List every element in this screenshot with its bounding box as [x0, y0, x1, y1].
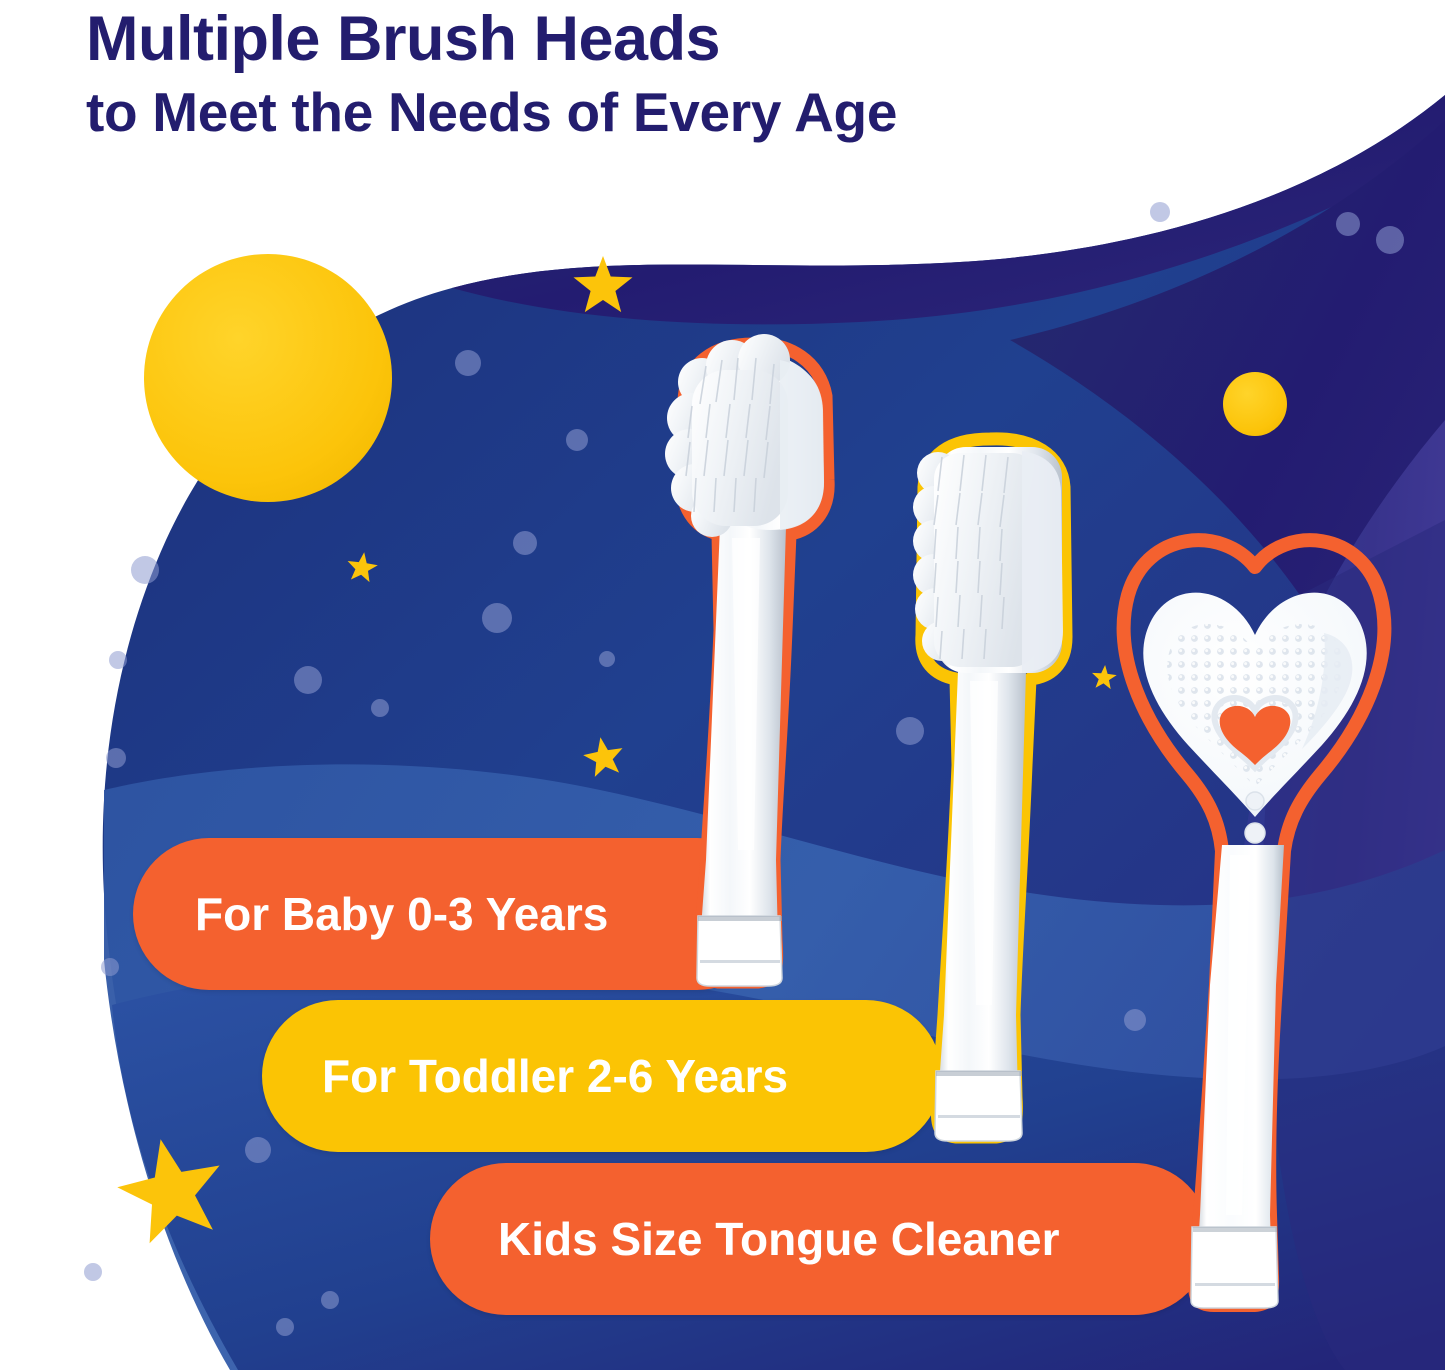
decorative-dot — [101, 958, 119, 976]
decorative-dot — [294, 666, 322, 694]
decorative-dot — [106, 748, 126, 768]
decorative-dot — [131, 556, 159, 584]
label-pill-toddler-text: For Toddler 2-6 Years — [322, 1049, 788, 1103]
tongue-cleaner-image — [1110, 515, 1400, 1315]
baby-brush-head-image — [640, 330, 890, 990]
baby-brush-base-ring-2 — [700, 960, 780, 963]
tongue-cleaner-vent-1 — [1246, 792, 1264, 810]
decorative-dot — [371, 699, 389, 717]
decorative-dot — [109, 651, 127, 669]
decorative-dot — [455, 350, 481, 376]
moon-large-icon — [144, 254, 392, 502]
decorative-dot — [566, 429, 588, 451]
toddler-brush-base-ring — [936, 1071, 1022, 1076]
moon-small-icon — [1223, 372, 1287, 436]
toddler-brush-base — [935, 1071, 1022, 1141]
tongue-cleaner-vent-2 — [1245, 823, 1265, 843]
tongue-cleaner-base-ring — [1193, 1227, 1277, 1232]
decorative-dot — [599, 651, 615, 667]
toddler-brush-base-ring-2 — [938, 1115, 1020, 1118]
toddler-brush-head-image — [880, 425, 1130, 1145]
decorative-dot — [276, 1318, 294, 1336]
baby-brush-base-ring — [698, 916, 782, 921]
tongue-cleaner-base — [1191, 1227, 1278, 1308]
decorative-dot — [1150, 202, 1170, 222]
decorative-dot — [321, 1291, 339, 1309]
label-pill-baby-text: For Baby 0-3 Years — [195, 887, 608, 941]
label-pill-tongue-cleaner-text: Kids Size Tongue Cleaner — [498, 1212, 1059, 1266]
label-pill-toddler[interactable]: For Toddler 2-6 Years — [262, 1000, 942, 1152]
decorative-dot — [245, 1137, 271, 1163]
toddler-brush-bristles — [913, 452, 1038, 667]
tongue-cleaner-base-ring-2 — [1195, 1283, 1275, 1286]
baby-brush-base — [697, 916, 782, 986]
decorative-dot — [1336, 212, 1360, 236]
decorative-dot — [513, 531, 537, 555]
label-pill-tongue-cleaner[interactable]: Kids Size Tongue Cleaner — [430, 1163, 1210, 1315]
toddler-brush-head-gloss — [1022, 451, 1063, 673]
decorative-dot — [1376, 226, 1404, 254]
decorative-dot — [84, 1263, 102, 1281]
baby-brush-bristles — [665, 334, 790, 537]
poster-canvas: Multiple Brush Heads to Meet the Needs o… — [0, 0, 1445, 1370]
decorative-dot — [482, 603, 512, 633]
